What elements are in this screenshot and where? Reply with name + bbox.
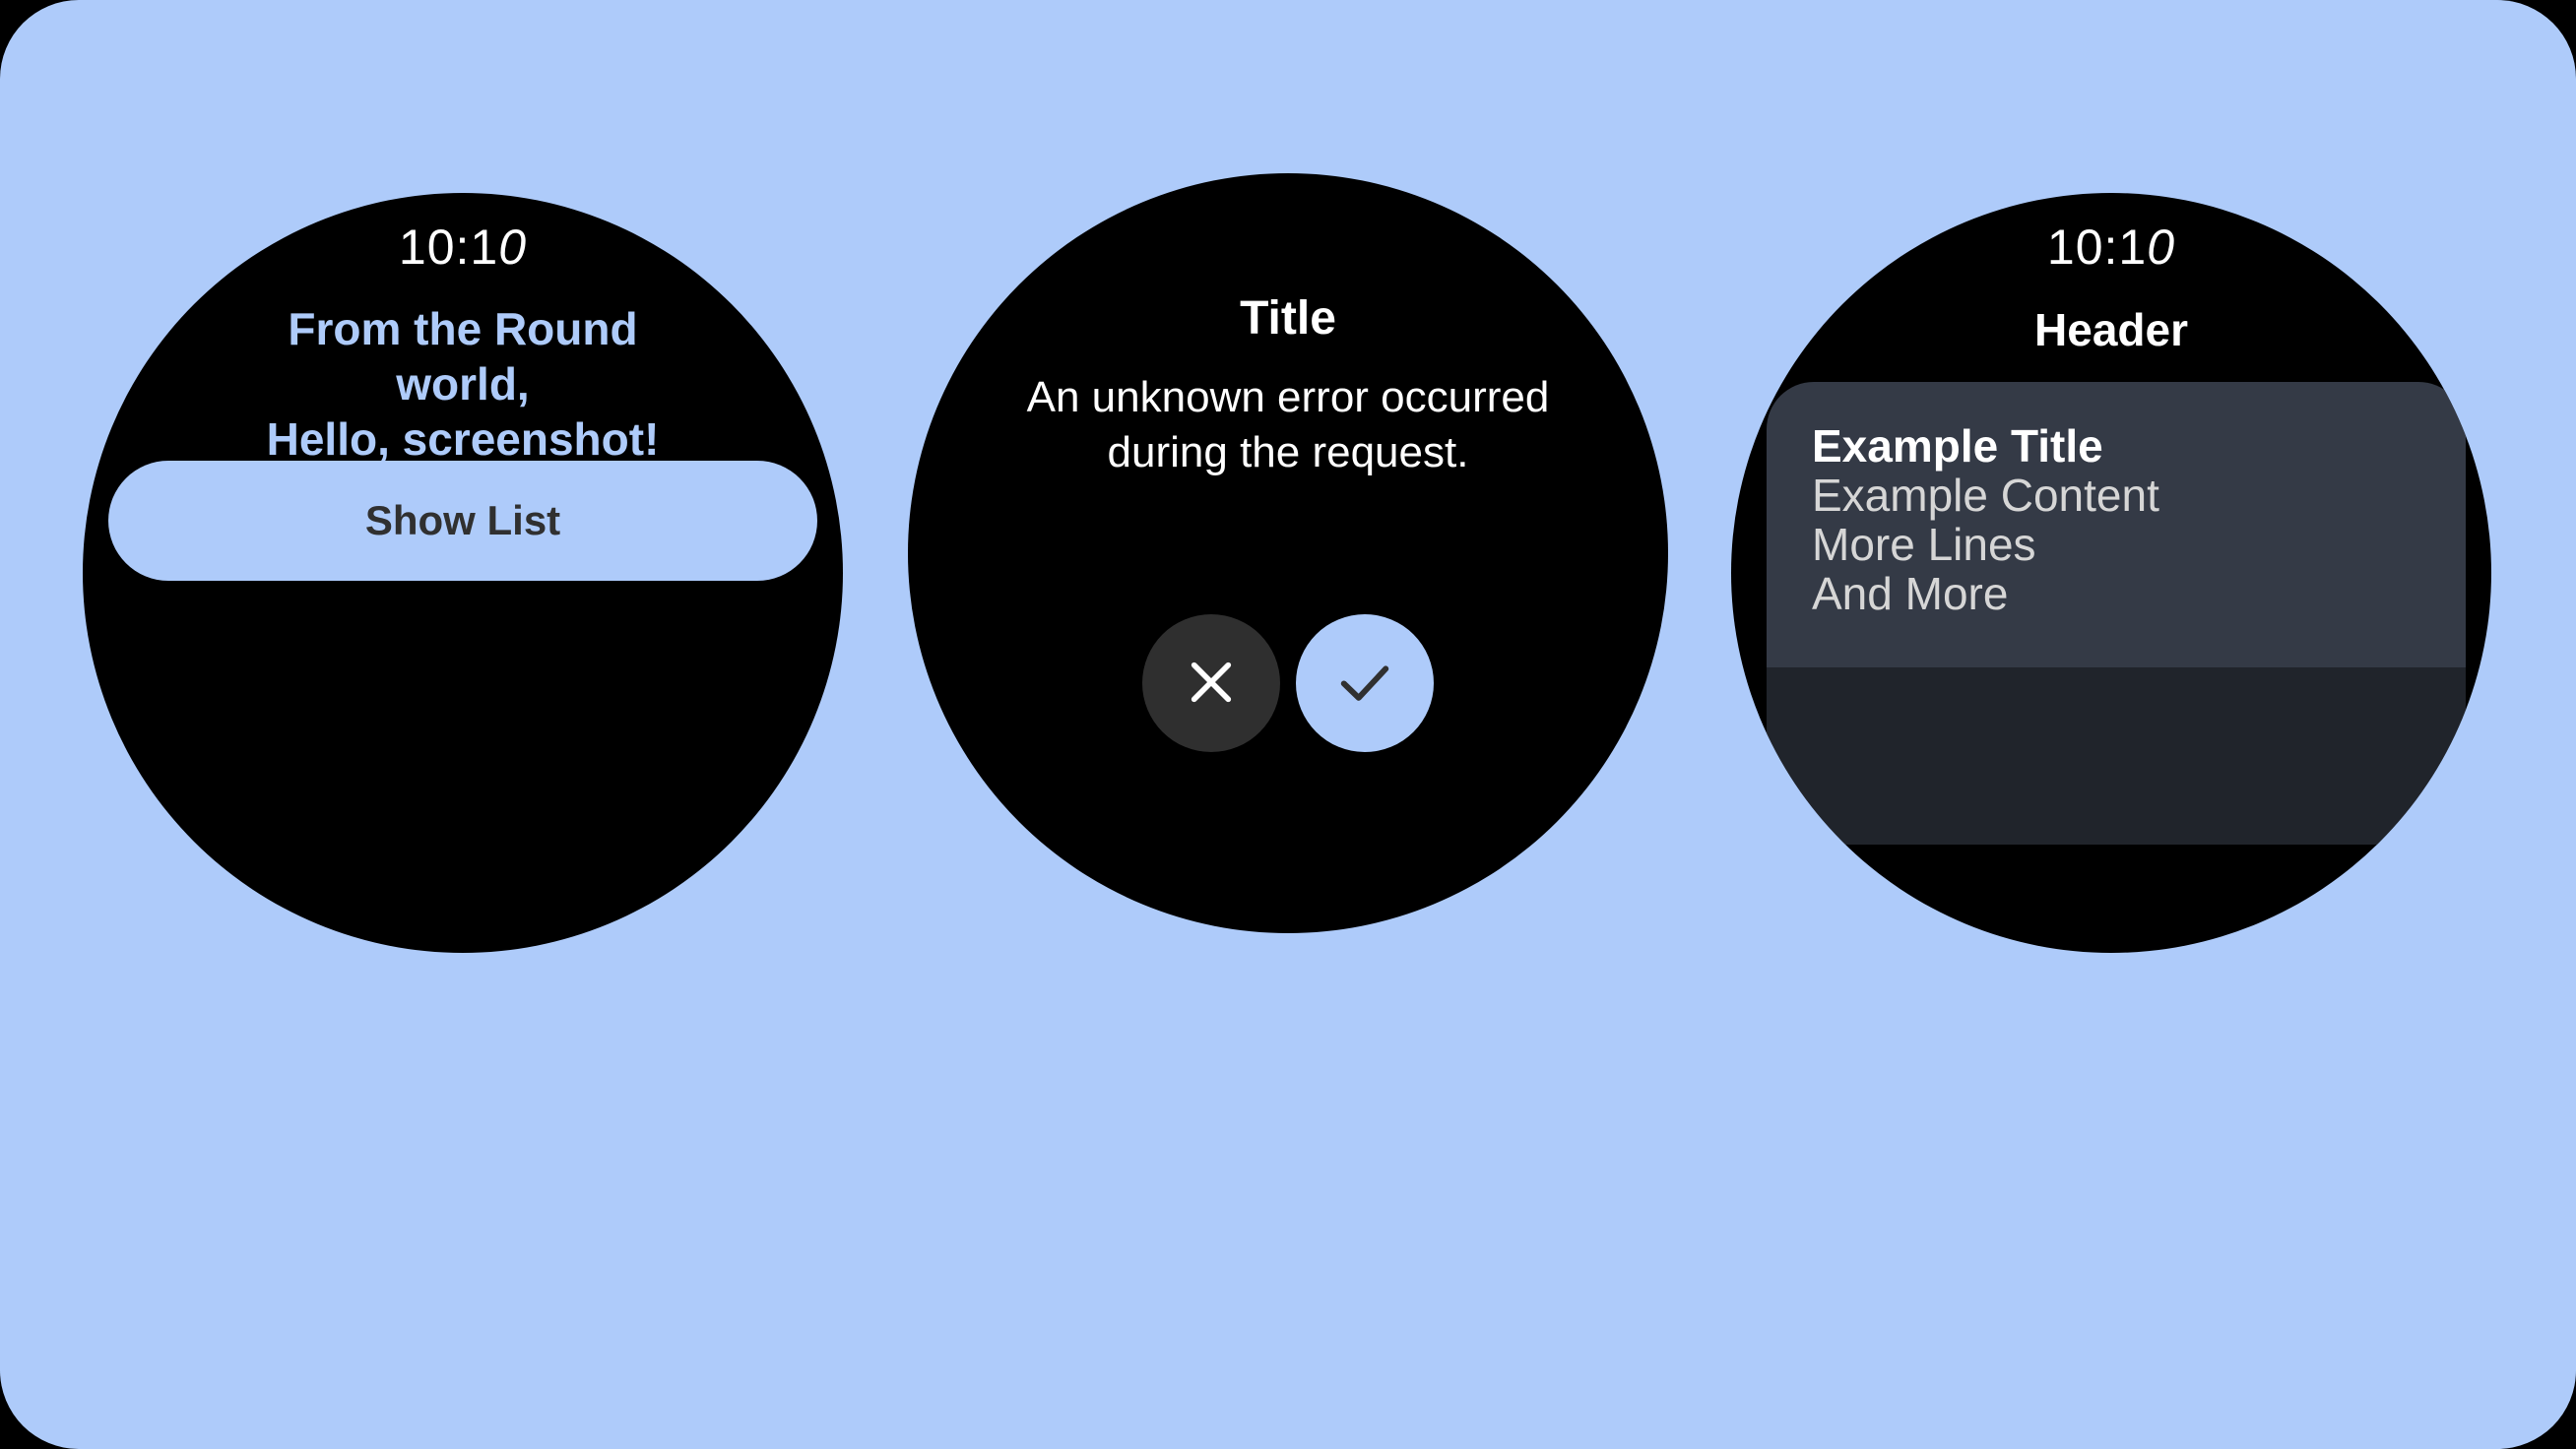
show-list-button[interactable]: Show List — [108, 461, 817, 581]
dialog-message: An unknown error occurred during the req… — [934, 370, 1642, 480]
card-line-more: More Lines — [1812, 520, 2420, 569]
dialog-message-line-2: during the request. — [934, 425, 1642, 480]
check-icon — [1331, 649, 1398, 719]
dismiss-button[interactable] — [1142, 614, 1280, 752]
watch-face-dialog: Title An unknown error occurred during t… — [908, 173, 1668, 933]
watch-overlay-hello: Show List — [83, 193, 843, 953]
status-time-card: 10:10 — [1731, 219, 2491, 276]
watch-preview-hello: 10:10 From the Round world, Hello, scree… — [83, 193, 843, 953]
close-icon — [1180, 651, 1243, 717]
info-card[interactable]: Example Title Example Content More Lines… — [1767, 382, 2466, 667]
status-time-prefix: 10:1 — [2047, 220, 2147, 275]
card-line-content: Example Content — [1812, 471, 2420, 520]
card-header: Header — [1771, 303, 2452, 356]
card-line-title: Example Title — [1812, 421, 2420, 471]
card-scroll-tail — [1767, 667, 2466, 845]
dialog-message-line-1: An unknown error occurred — [934, 370, 1642, 425]
card-line-and-more: And More — [1812, 569, 2420, 618]
screenshot-canvas: 10:10 From the Round world, Hello, scree… — [0, 0, 2576, 1449]
status-time-suffix: 0 — [2147, 220, 2175, 275]
dialog-actions — [908, 614, 1668, 752]
confirm-button[interactable] — [1296, 614, 1434, 752]
watch-preview-dialog: Title An unknown error occurred during t… — [908, 173, 1668, 933]
dialog-title: Title — [947, 291, 1629, 346]
watch-preview-card: 10:10 Header Example Title Example Conte… — [1731, 193, 2491, 953]
watch-face-card: 10:10 Header Example Title Example Conte… — [1731, 193, 2491, 953]
